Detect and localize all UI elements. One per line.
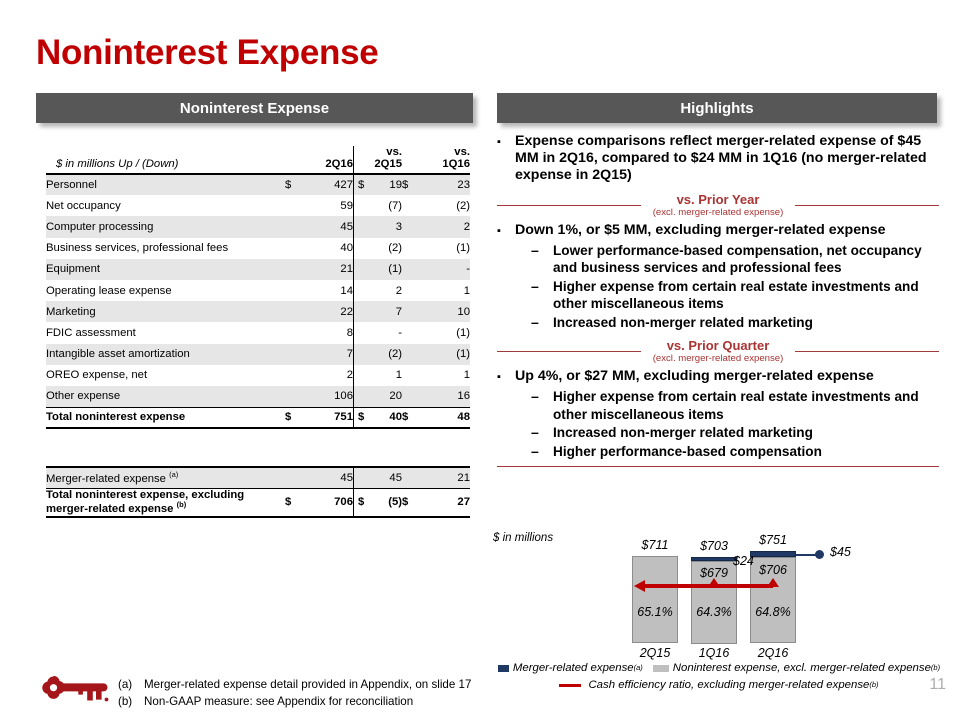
row-vs-1q16-currency	[402, 365, 424, 386]
table-total-row: Total noninterest expense$751$40$48	[46, 407, 470, 428]
bar-total-label: $711	[623, 538, 687, 552]
row-2q16-value: 45	[307, 216, 354, 237]
row-label: Marketing	[46, 301, 285, 322]
row-2q16-currency: $	[285, 174, 307, 195]
bar-segment-noninterest-expense	[632, 556, 678, 643]
row-label: Equipment	[46, 259, 285, 280]
row-vs-1q16-value: 10	[424, 301, 470, 322]
row-2q16-currency	[285, 322, 307, 343]
merger-callout-1q16: $24	[733, 554, 754, 568]
footnotes: (a) Merger-related expense detail provid…	[118, 676, 471, 710]
panel-header-highlights: Highlights	[497, 93, 937, 123]
table-row: FDIC assessment8-(1)	[46, 322, 470, 343]
row-vs-2q15-value: 1	[356, 365, 402, 386]
section-title-prior-quarter: vs. Prior Quarter	[653, 338, 784, 353]
efficiency-ratio-chart: $ in millions $71165.1%2Q15$703$67964.3%…	[493, 530, 939, 660]
row-vs-2q15-value: 20	[356, 386, 402, 407]
total-vs-2q15-value: $40	[356, 407, 402, 428]
highlight-bullet-prior-year: ▪ Down 1%, or $5 MM, excluding merger-re…	[497, 222, 939, 240]
row-2q16-value: 106	[307, 386, 354, 407]
bar-total-label: $703	[682, 539, 746, 553]
row-vs-1q16-currency	[402, 301, 424, 322]
table-row: Net occupancy59(7)(2)	[46, 195, 470, 216]
row-vs-1q16-currency	[402, 259, 424, 280]
row-label: Merger-related expense (a)	[46, 467, 285, 488]
legend-swatch-merger-related-icon	[498, 665, 509, 672]
table-row: OREO expense, net211	[46, 365, 470, 386]
row-vs-2q15-value: 3	[356, 216, 402, 237]
row-2q16-value: 22	[307, 301, 354, 322]
row-2q16-currency	[285, 301, 307, 322]
row-vs-1q16-value: -	[424, 259, 470, 280]
row-label: Business services, professional fees	[46, 238, 285, 259]
row-2q16-currency	[285, 238, 307, 259]
legend-row-bottom: Cash efficiency ratio, excluding merger-…	[493, 678, 945, 692]
bar-value-label-noninterest: $706	[750, 563, 796, 577]
bar-category-label: 1Q16	[685, 646, 743, 660]
table-header-units: $ in millions Up / (Down)	[46, 146, 285, 174]
table-row: Merger-related expense (a)454521	[46, 467, 470, 488]
table-total-row: Total noninterest expense, excludingmerg…	[46, 488, 470, 517]
row-vs-1q16-value: (1)	[424, 322, 470, 343]
total-2q16-currency: $	[285, 488, 307, 517]
row-vs-2q15-value: 45	[356, 467, 402, 488]
highlight-bullet-intro: ▪ Expense comparisons reflect merger-rel…	[497, 133, 939, 185]
row-vs-1q16-currency	[402, 195, 424, 216]
table-header-row: $ in millions Up / (Down)2Q16vs. 2Q15vs.…	[46, 146, 470, 174]
row-label: FDIC assessment	[46, 322, 285, 343]
total-vs-2q15-value: $(5)	[356, 488, 402, 517]
table-row: Other expense1062016	[46, 386, 470, 407]
row-2q16-value: 427	[307, 174, 354, 195]
total-label: Total noninterest expense, excludingmerg…	[46, 488, 285, 517]
legend-swatch-efficiency-ratio-icon	[559, 684, 581, 687]
row-label: Net occupancy	[46, 195, 285, 216]
row-vs-2q15-value: (2)	[356, 344, 402, 365]
row-label: Other expense	[46, 386, 285, 407]
row-2q16-currency	[285, 216, 307, 237]
row-label: Intangible asset amortization	[46, 344, 285, 365]
panel-header-noninterest-expense: Noninterest Expense	[36, 93, 473, 123]
noninterest-expense-table: $ in millions Up / (Down)2Q16vs. 2Q15vs.…	[46, 146, 470, 429]
table-header-2q16: 2Q16	[307, 146, 354, 174]
dash-marker-icon: –	[531, 424, 553, 442]
dash-marker-icon: –	[531, 242, 553, 277]
row-vs-1q16-currency	[402, 386, 424, 407]
row-2q16-value: 8	[307, 322, 354, 343]
row-2q16-value: 7	[307, 344, 354, 365]
table-row: Equipment21(1)-	[46, 259, 470, 280]
row-2q16-value: 45	[307, 467, 354, 488]
bullet-marker-icon: ▪	[497, 222, 515, 240]
bar-category-label: 2Q15	[626, 646, 684, 660]
row-vs-2q15-value: $19	[356, 174, 402, 195]
divider-line-right	[795, 205, 939, 206]
row-vs-1q16-currency: $	[402, 174, 424, 195]
highlight-sub-prior-quarter-2: –Increased non-merger related marketing	[497, 424, 939, 442]
row-vs-2q15-value: (7)	[356, 195, 402, 216]
page-title: Noninterest Expense	[36, 33, 378, 73]
chart-units-label: $ in millions	[493, 532, 553, 544]
highlight-sub-prior-year-3: –Increased non-merger related marketing	[497, 314, 939, 332]
table-row: Business services, professional fees40(2…	[46, 238, 470, 259]
table-header-vs-2q15: vs. 2Q15	[356, 146, 402, 174]
row-vs-2q15-value: (2)	[356, 238, 402, 259]
highlight-sub-prior-quarter-3: –Higher performance-based compensation	[497, 443, 939, 461]
row-2q16-currency	[285, 386, 307, 407]
legend-swatch-noninterest-icon	[653, 665, 669, 672]
efficiency-ratio-label: 64.3%	[685, 605, 743, 619]
total-label: Total noninterest expense	[46, 407, 285, 428]
divider-line-left	[497, 351, 641, 352]
row-vs-2q15-value: 2	[356, 280, 402, 301]
row-vs-1q16-value: 2	[424, 216, 470, 237]
row-vs-2q15-value: -	[356, 322, 402, 343]
highlight-sub-prior-quarter-1: –Higher expense from certain real estate…	[497, 388, 939, 423]
row-2q16-value: 40	[307, 238, 354, 259]
highlight-bullet-prior-quarter: ▪ Up 4%, or $27 MM, excluding merger-rel…	[497, 368, 939, 386]
row-2q16-value: 2	[307, 365, 354, 386]
footnote-b: (b) Non-GAAP measure: see Appendix for r…	[118, 693, 471, 710]
section-subtitle-prior-year: (excl. merger-related expense)	[653, 207, 784, 219]
efficiency-ratio-label: 64.8%	[744, 605, 802, 619]
bullet-marker-icon: ▪	[497, 133, 515, 185]
row-vs-1q16-currency	[402, 344, 424, 365]
table-row: Operating lease expense1421	[46, 280, 470, 301]
table-header-vs-1q16: vs. 1Q16	[424, 146, 470, 174]
legend-sup-b: (b)	[931, 661, 940, 675]
divider-line-left	[497, 205, 641, 206]
legend-label-merger-related: Merger-related expense	[513, 661, 634, 675]
table-row: Intangible asset amortization7(2)(1)	[46, 344, 470, 365]
footnote-a: (a) Merger-related expense detail provid…	[118, 676, 471, 693]
section-subtitle-prior-quarter: (excl. merger-related expense)	[653, 353, 784, 365]
row-2q16-value: 14	[307, 280, 354, 301]
total-2q16-value: 751	[307, 407, 354, 428]
row-vs-1q16-currency	[402, 280, 424, 301]
row-vs-2q15-value: (1)	[356, 259, 402, 280]
keycorp-logo-icon	[33, 672, 113, 716]
table-row: Personnel$427$19$23	[46, 174, 470, 195]
bullet-marker-icon: ▪	[497, 368, 515, 386]
merger-callout-2q16: $45	[830, 545, 851, 559]
row-label: Operating lease expense	[46, 280, 285, 301]
section-title-prior-year: vs. Prior Year	[653, 192, 784, 207]
total-vs-1q16-currency: $	[402, 407, 424, 428]
row-2q16-currency	[285, 195, 307, 216]
legend-row-top: Merger-related expense (a) Noninterest e…	[493, 661, 945, 675]
row-vs-1q16-value: 1	[424, 365, 470, 386]
row-label: Personnel	[46, 174, 285, 195]
total-vs-1q16-value: 48	[424, 407, 470, 428]
row-vs-2q15-value: 7	[356, 301, 402, 322]
efficiency-ratio-label: 65.1%	[626, 605, 684, 619]
efficiency-ratio-marker-icon	[708, 578, 720, 587]
row-2q16-value: 21	[307, 259, 354, 280]
total-vs-1q16-value: 27	[424, 488, 470, 517]
row-2q16-currency	[285, 280, 307, 301]
row-2q16-currency	[285, 259, 307, 280]
row-vs-1q16-value: 16	[424, 386, 470, 407]
table-row: Computer processing4532	[46, 216, 470, 237]
row-vs-1q16-currency	[402, 322, 424, 343]
bar-total-label: $751	[741, 533, 805, 547]
row-vs-1q16-value: (2)	[424, 195, 470, 216]
legend-sup-a: (a)	[634, 661, 643, 675]
row-vs-1q16-currency	[402, 216, 424, 237]
row-vs-1q16-value: (1)	[424, 238, 470, 259]
merger-related-expense-table: Merger-related expense (a)454521 Total n…	[46, 466, 470, 518]
table-row: Marketing22710	[46, 301, 470, 322]
page-number: 11	[929, 676, 946, 694]
efficiency-ratio-marker-icon	[767, 578, 779, 587]
total-vs-1q16-currency: $	[402, 488, 424, 517]
chart-legend: Merger-related expense (a) Noninterest e…	[493, 661, 945, 692]
row-vs-1q16-value: 23	[424, 174, 470, 195]
row-label: OREO expense, net	[46, 365, 285, 386]
row-2q16-value: 59	[307, 195, 354, 216]
legend-sup-b2: (b)	[869, 678, 878, 692]
section-divider-bottom	[497, 466, 939, 467]
dash-marker-icon: –	[531, 443, 553, 461]
dash-marker-icon: –	[531, 278, 553, 313]
bar-category-label: 2Q16	[744, 646, 802, 660]
row-vs-1q16-value: 21	[424, 467, 470, 488]
total-2q16-value: 706	[307, 488, 354, 517]
efficiency-ratio-arrow-icon	[634, 580, 645, 592]
row-vs-1q16-value: 1	[424, 280, 470, 301]
section-divider-prior-quarter: vs. Prior Quarter (excl. merger-related …	[497, 338, 939, 365]
dash-marker-icon: –	[531, 314, 553, 332]
merger-leader-dot-icon	[815, 550, 824, 559]
section-divider-prior-year: vs. Prior Year (excl. merger-related exp…	[497, 192, 939, 219]
highlights-panel: ▪ Expense comparisons reflect merger-rel…	[497, 133, 939, 467]
legend-label-efficiency-ratio: Cash efficiency ratio, excluding merger-…	[588, 678, 869, 692]
highlight-sub-prior-year-1: –Lower performance-based compensation, n…	[497, 242, 939, 277]
total-2q16-currency: $	[285, 407, 307, 428]
dash-marker-icon: –	[531, 388, 553, 423]
legend-label-noninterest: Noninterest expense, excl. merger-relate…	[673, 661, 931, 675]
row-2q16-currency	[285, 344, 307, 365]
row-label: Computer processing	[46, 216, 285, 237]
highlight-sub-prior-year-2: –Higher expense from certain real estate…	[497, 278, 939, 313]
efficiency-ratio-line	[640, 584, 773, 588]
row-vs-1q16-currency	[402, 238, 424, 259]
row-2q16-currency	[285, 365, 307, 386]
divider-line-right	[795, 351, 939, 352]
row-vs-1q16-value: (1)	[424, 344, 470, 365]
